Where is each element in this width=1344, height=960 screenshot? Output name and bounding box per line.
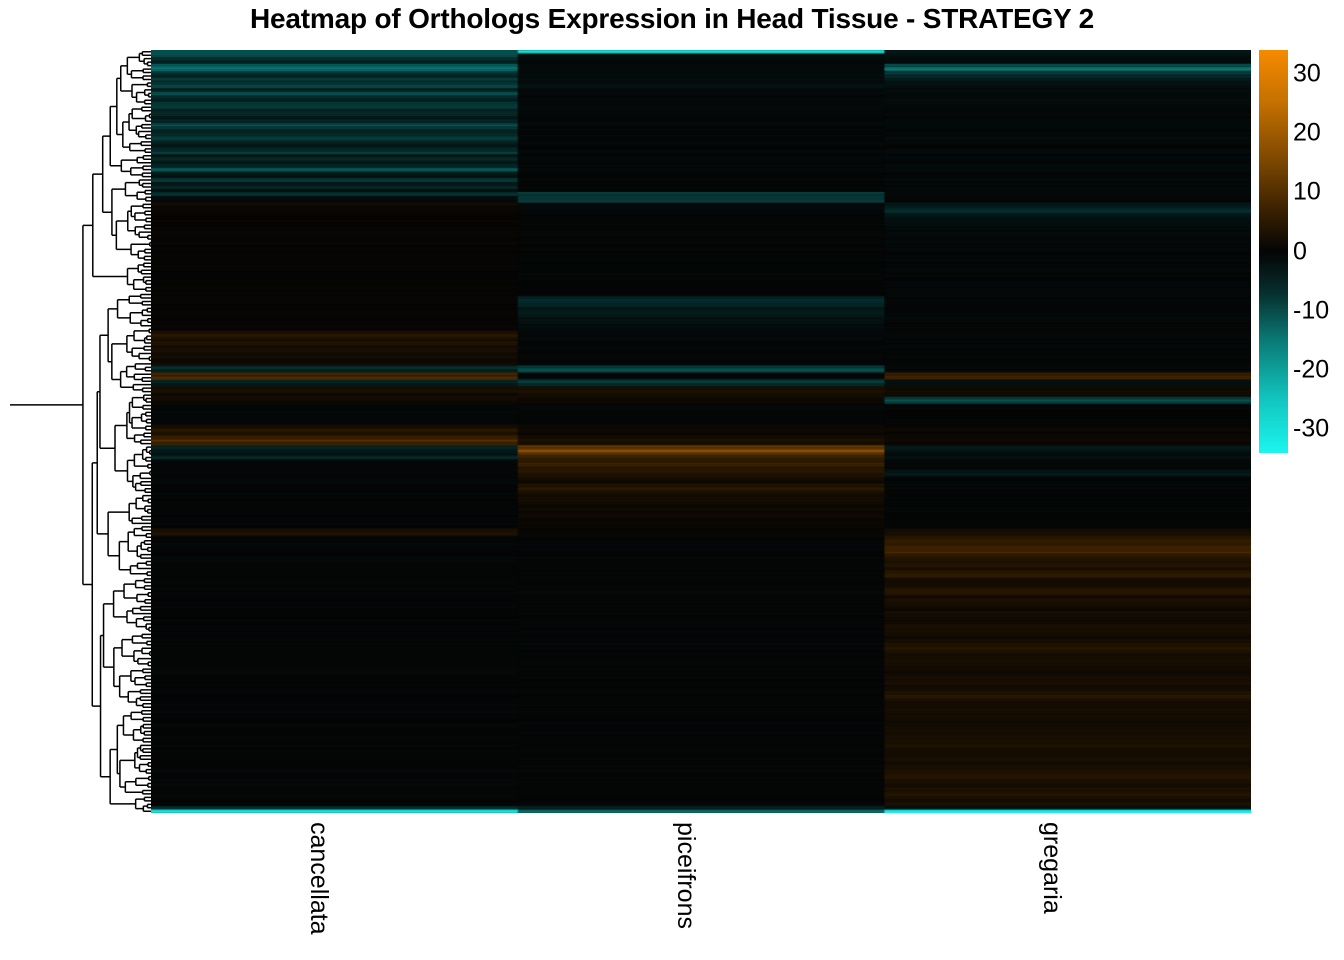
heatmap-figure: Heatmap of Orthologs Expression in Head … [0, 0, 1344, 960]
colorbar-tick-label: -20 [1293, 356, 1329, 385]
heatmap-matrix[interactable] [151, 50, 1251, 813]
colorbar-tick-label: 10 [1293, 178, 1321, 207]
page-title: Heatmap of Orthologs Expression in Head … [0, 3, 1344, 35]
colorbar-tick-label: 30 [1293, 59, 1321, 88]
column-label-cancellata: cancellata [304, 822, 333, 935]
dendrogram-branches [10, 52, 152, 812]
heatmap-canvas[interactable] [151, 50, 1251, 813]
row-dendrogram [8, 50, 152, 813]
colorbar-legend: 3020100-10-20-30 [1259, 50, 1344, 460]
colorbar-tick-label: -10 [1293, 296, 1329, 325]
column-label-gregaria: gregaria [1037, 822, 1066, 914]
colorbar-tick-label: 20 [1293, 118, 1321, 147]
column-label-piceifrons: piceifrons [671, 822, 700, 929]
colorbar-tick-label: -30 [1293, 415, 1329, 444]
dendrogram-svg [8, 50, 152, 813]
colorbar-gradient [1259, 50, 1288, 453]
colorbar-tick-label: 0 [1293, 237, 1307, 266]
